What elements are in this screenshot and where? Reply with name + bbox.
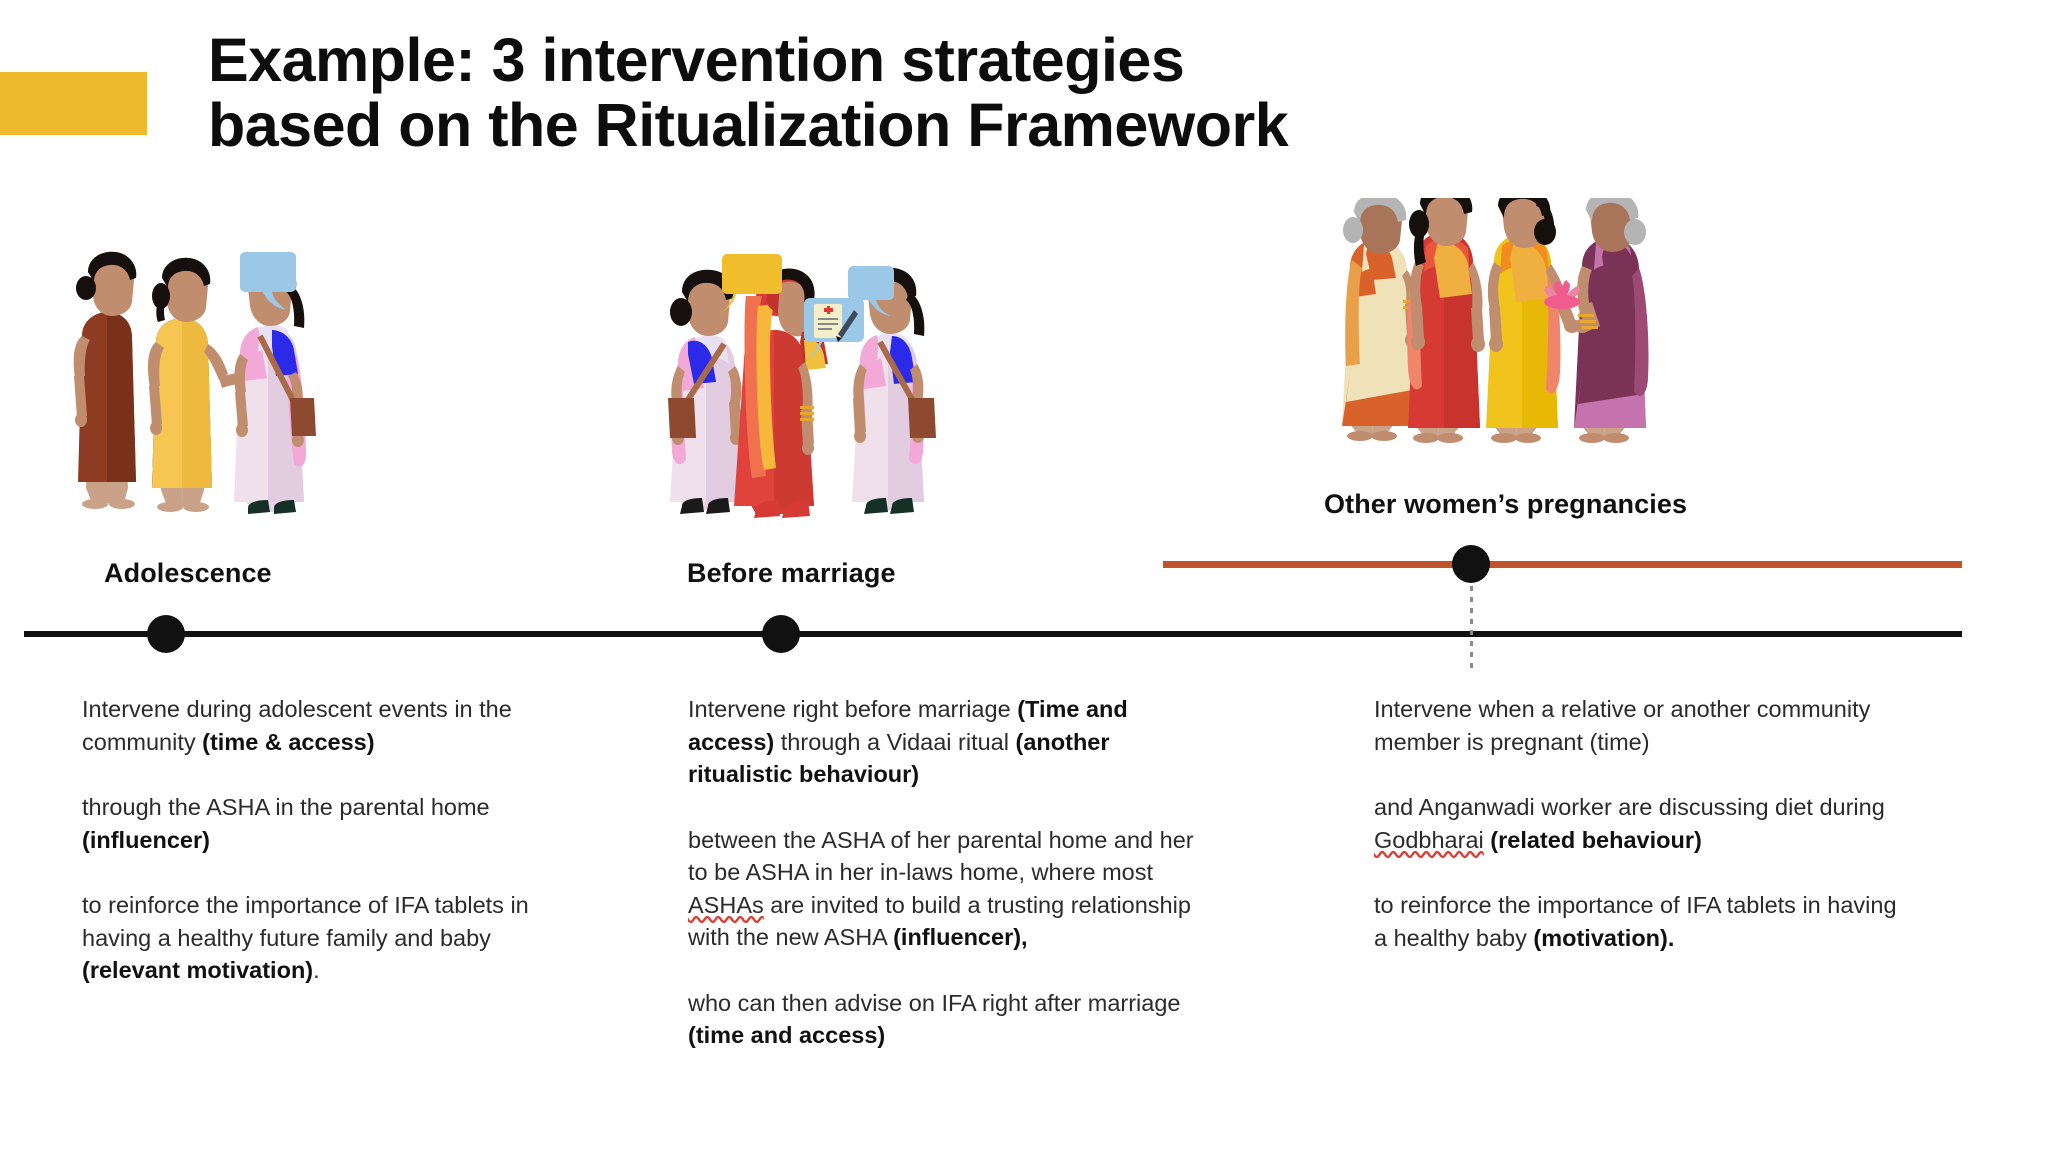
strategy-paragraph: Intervene when a relative or another com… xyxy=(1374,693,1914,758)
elder-woman-cream-sari xyxy=(1342,198,1419,441)
accent-block xyxy=(0,72,147,135)
timeline-drop-connector xyxy=(1470,586,1473,674)
pregnant-woman-yellow-sari xyxy=(1486,198,1580,443)
strategy-paragraph: and Anganwadi worker are discussing diet… xyxy=(1374,791,1914,856)
strategy-column-adolescence: Intervene during adolescent events in th… xyxy=(82,693,537,987)
asha-worker-pink-sari xyxy=(234,260,316,514)
strategy-column-before-marriage: Intervene right before marriage (Time an… xyxy=(688,693,1218,1052)
timeline-node-before-marriage[interactable] xyxy=(762,615,800,653)
woman-red-sari xyxy=(1407,198,1485,443)
spellcheck-underlined-word: ASHAs xyxy=(688,892,764,918)
spellcheck-underlined-word: Godbharai xyxy=(1374,827,1484,853)
timeline-main-axis xyxy=(24,631,1962,637)
woman-maroon-dress xyxy=(74,252,137,509)
strategy-paragraph: who can then advise on IFA right after m… xyxy=(688,987,1218,1052)
stage-label-before-marriage: Before marriage xyxy=(687,558,896,589)
stage-label-other-pregnancies: Other women’s pregnancies xyxy=(1324,489,1687,520)
elder-woman-purple-sari xyxy=(1574,198,1649,443)
page-title: Example: 3 intervention strategies based… xyxy=(208,28,1708,157)
asha-worker-pink-sari-right xyxy=(852,268,936,514)
strategy-paragraph: Intervene right before marriage (Time an… xyxy=(688,693,1218,791)
strategy-paragraph: to reinforce the importance of IFA table… xyxy=(1374,889,1914,954)
bride-with-two-asha-workers-illustration xyxy=(652,248,942,542)
stage-label-adolescence: Adolescence xyxy=(104,558,272,589)
strategy-paragraph: between the ASHA of her parental home an… xyxy=(688,824,1218,954)
strategy-column-other-pregnancies: Intervene when a relative or another com… xyxy=(1374,693,1914,954)
timeline-highlight-axis xyxy=(1163,561,1962,568)
three-women-talking-illustration xyxy=(62,250,332,542)
asha-worker-pink-sari-left xyxy=(668,270,742,514)
strategy-paragraph: to reinforce the importance of IFA table… xyxy=(82,889,537,987)
timeline-node-adolescence[interactable] xyxy=(147,615,185,653)
godbharai-ceremony-illustration xyxy=(1338,198,1670,448)
slide-canvas: Example: 3 intervention strategies based… xyxy=(0,0,2048,1150)
timeline-node-other-pregnancies[interactable] xyxy=(1452,545,1490,583)
strategy-paragraph: Intervene during adolescent events in th… xyxy=(82,693,537,758)
strategy-paragraph: through the ASHA in the parental home (i… xyxy=(82,791,537,856)
